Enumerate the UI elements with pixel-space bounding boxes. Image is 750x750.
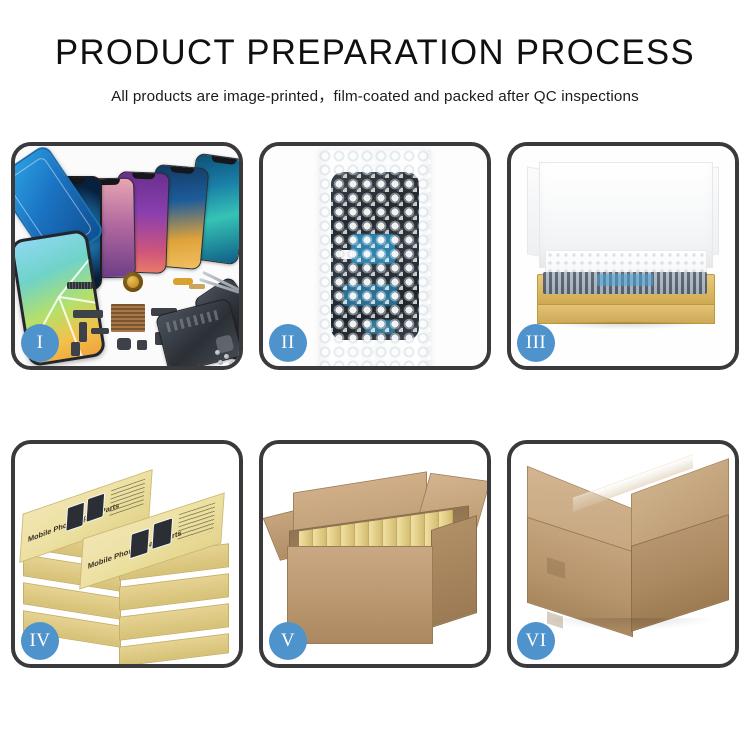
step-badge-1: I xyxy=(21,324,59,362)
carton-shadow xyxy=(545,618,713,630)
step-badge-4: IV xyxy=(21,622,59,660)
process-step-panel-2: II xyxy=(259,142,491,370)
process-step-panel-1: I xyxy=(11,142,243,370)
step-badge-2: II xyxy=(269,324,307,362)
process-step-panel-6: VI xyxy=(507,440,739,668)
process-step-panel-4: Mobile Phone Spare Parts Mobile Phone Sp… xyxy=(11,440,243,668)
kraft-box-front-wall xyxy=(537,304,715,324)
screws-group-icon xyxy=(215,350,239,366)
sealed-shipping-carton xyxy=(521,468,733,648)
page-subtitle: All products are image-printed，film-coat… xyxy=(0,73,750,106)
carton-front-face xyxy=(287,546,433,644)
vibration-motor-icon xyxy=(123,272,143,292)
earpiece-part-icon xyxy=(117,338,131,350)
box-shadow xyxy=(547,322,703,330)
bubble-wrap-texture xyxy=(319,150,431,366)
carton-side-right xyxy=(431,515,477,628)
speaker-part-icon xyxy=(67,282,93,289)
process-step-grid: I II xyxy=(11,142,739,668)
ribbon-cable-icon xyxy=(73,310,103,318)
process-step-panel-5: V xyxy=(259,440,491,668)
blue-film-accent xyxy=(597,274,653,286)
small-flex-part-icon xyxy=(79,322,87,342)
header: PRODUCT PREPARATION PROCESS All products… xyxy=(0,0,750,106)
step-badge-6: VI xyxy=(517,622,555,660)
step-badge-5: V xyxy=(269,622,307,660)
step-badge-3: III xyxy=(517,324,555,362)
antenna-part-icon xyxy=(91,328,109,334)
spare-parts-cluster xyxy=(67,264,239,366)
button-part-icon xyxy=(137,340,147,350)
sim-tray-icon xyxy=(71,342,80,356)
infographic-page: PRODUCT PREPARATION PROCESS All products… xyxy=(0,0,750,750)
process-step-panel-3: III xyxy=(507,142,739,370)
page-title: PRODUCT PREPARATION PROCESS xyxy=(4,0,747,73)
speaker-mesh-icon xyxy=(111,304,145,332)
